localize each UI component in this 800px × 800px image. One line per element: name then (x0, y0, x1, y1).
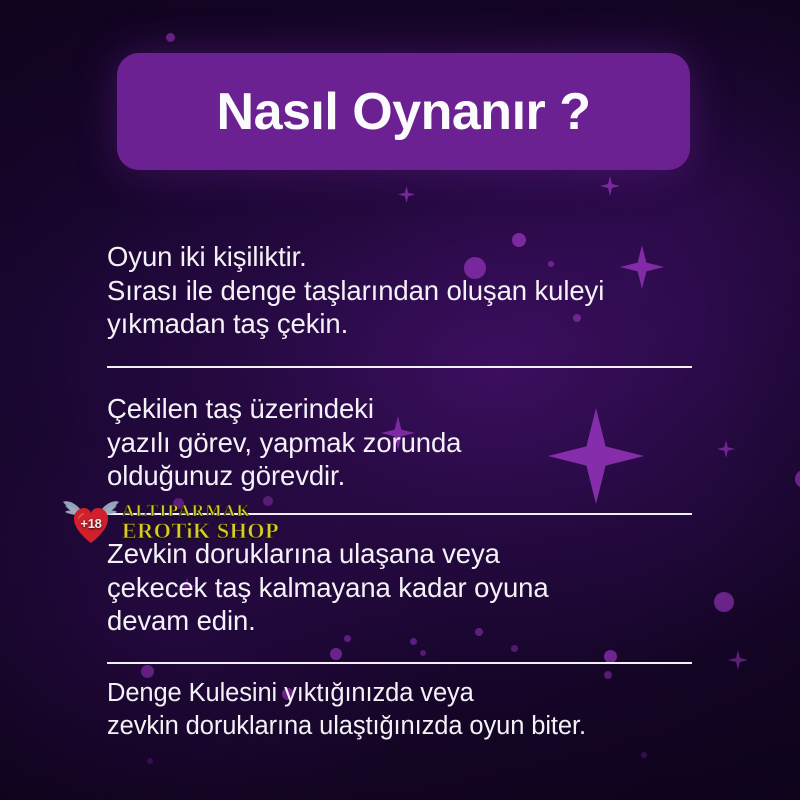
brand-name: ALTIPARMAK EROTiK SHOP (122, 503, 279, 540)
instruction-step-3: Zevkin doruklarına ulaşana veya çekecek … (107, 537, 693, 638)
winged-heart-icon: +18 (62, 499, 120, 545)
brand-line-2: EROTiK SHOP (122, 520, 279, 541)
instruction-step-1: Oyun iki kişiliktir. Sırası ile denge ta… (107, 240, 693, 341)
instruction-step-4: Denge Kulesini yıktığınızda veya zevkin … (107, 677, 693, 742)
divider-1 (107, 366, 692, 368)
age-badge: +18 (62, 516, 120, 531)
title-banner: Nasıl Oynanır ? (117, 53, 690, 170)
brand-watermark: +18 ALTIPARMAK EROTiK SHOP (62, 497, 292, 547)
page-title: Nasıl Oynanır ? (217, 86, 591, 138)
poster-canvas: Nasıl Oynanır ? Oyun iki kişiliktir. Sır… (0, 0, 800, 800)
instruction-step-2: Çekilen taş üzerindeki yazılı görev, yap… (107, 392, 693, 493)
divider-3 (107, 662, 692, 664)
